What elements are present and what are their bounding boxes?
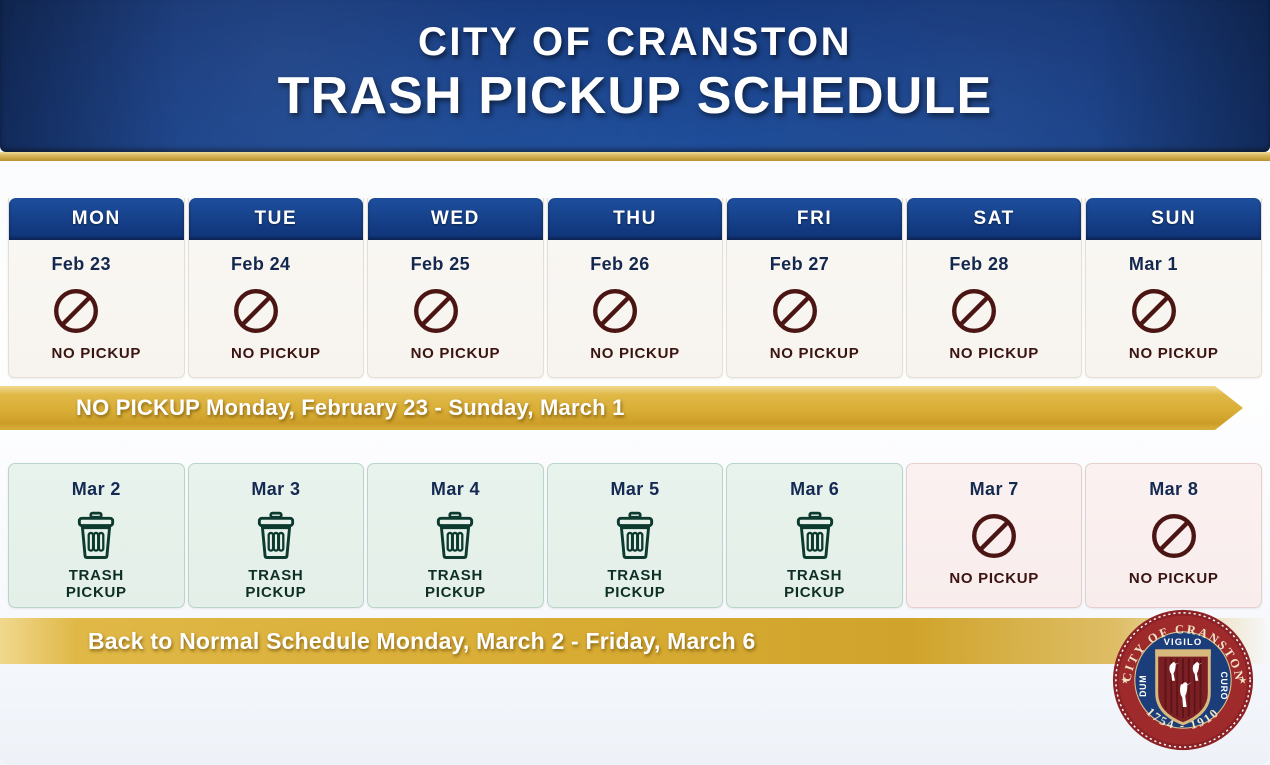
trash-pickup-schedule-graphic: CITY OF CRANSTON TRASH PICKUP SCHEDULE M… [0, 0, 1270, 765]
no-pickup-icon [411, 286, 461, 336]
city-of-cranston-seal: CITY OF CRANSTON 1754 - 1910 ★ ★ VIGILO … [1110, 607, 1256, 753]
weekday-header: MON [9, 198, 184, 240]
cell-date: Feb 28 [949, 254, 1039, 275]
title-lines: CITY OF CRANSTON TRASH PICKUP SCHEDULE [0, 18, 1270, 126]
cell-status-label: TRASHPICKUP [245, 567, 306, 601]
cell-status-label: NO PICKUP [1129, 345, 1219, 362]
weekday-header: TUE [189, 198, 364, 240]
week-2-banner-text: Back to Normal Schedule Monday, March 2 … [88, 628, 756, 655]
cell-status-label: NO PICKUP [949, 345, 1039, 362]
weekday-header: FRI [727, 198, 902, 240]
cell-date: Feb 24 [231, 254, 321, 275]
cell-date: Mar 5 [611, 479, 660, 500]
no-pickup-icon [51, 286, 101, 336]
cell-status-label: NO PICKUP [770, 345, 860, 362]
seal-motto-right: CURO [1219, 671, 1229, 700]
footer-area [0, 666, 1270, 765]
calendar-cell-feb-26[interactable]: THU Feb 26 NO PICKUP [547, 198, 724, 378]
calendar-cell-feb-25[interactable]: WED Feb 25 NO PICKUP [367, 198, 544, 378]
title-banner: CITY OF CRANSTON TRASH PICKUP SCHEDULE [0, 0, 1270, 152]
calendar-cell-feb-27[interactable]: FRI Feb 27 NO PICKUP [726, 198, 903, 378]
cell-status-label: TRASHPICKUP [605, 567, 666, 601]
week-1-banner-text: NO PICKUP Monday, February 23 - Sunday, … [76, 395, 625, 421]
cell-date: Mar 7 [970, 479, 1019, 500]
no-pickup-icon [1149, 511, 1199, 561]
cell-date: Mar 6 [790, 479, 839, 500]
weekday-header: THU [548, 198, 723, 240]
cell-date: Feb 27 [770, 254, 860, 275]
week-2-banner: Back to Normal Schedule Monday, March 2 … [0, 618, 1270, 664]
cell-date: Mar 2 [72, 479, 121, 500]
seal-motto-left: DUM [1138, 675, 1148, 697]
cell-status-label: TRASHPICKUP [66, 567, 127, 601]
calendar-cell-mar-7[interactable]: Mar 7 NO PICKUP [906, 463, 1083, 608]
no-pickup-icon [770, 286, 820, 336]
trash-bin-icon [791, 510, 839, 560]
calendar-cell-feb-24[interactable]: TUE Feb 24 NO PICKUP [188, 198, 365, 378]
trash-bin-icon [72, 510, 120, 560]
calendar-cell-mar-4[interactable]: Mar 4 TRASHPICKUP [367, 463, 544, 608]
cell-date: Feb 23 [51, 254, 141, 275]
calendar-cell-mar-3[interactable]: Mar 3 TRASHPICKUP [188, 463, 365, 608]
cell-status-label: NO PICKUP [949, 570, 1039, 587]
cell-status-label: NO PICKUP [1129, 570, 1219, 587]
calendar-cell-mar-5[interactable]: Mar 5 TRASHPICKUP [547, 463, 724, 608]
cell-status-label: NO PICKUP [590, 345, 680, 362]
seal-motto-top: VIGILO [1164, 637, 1203, 648]
cell-date: Mar 8 [1149, 479, 1198, 500]
no-pickup-icon [1129, 286, 1179, 336]
week-2-row: Mar 2 TRASHPICKUP Mar 3 TRASHPICKUP Mar … [8, 463, 1262, 608]
cell-status-label: NO PICKUP [51, 345, 141, 362]
trash-bin-icon [431, 510, 479, 560]
cell-date: Feb 25 [411, 254, 501, 275]
calendar-cell-mar-1[interactable]: SUN Mar 1 NO PICKUP [1085, 198, 1262, 378]
cell-status-label: NO PICKUP [231, 345, 321, 362]
weekday-header: SAT [907, 198, 1082, 240]
cell-date: Mar 4 [431, 479, 480, 500]
calendar-cell-mar-2[interactable]: Mar 2 TRASHPICKUP [8, 463, 185, 608]
no-pickup-icon [231, 286, 281, 336]
seal-star-right: ★ [1238, 676, 1247, 687]
no-pickup-icon [969, 511, 1019, 561]
schedule-board: MON Feb 23 NO PICKUP TUE Feb 24 NO PICKU… [0, 170, 1270, 670]
city-name: CITY OF CRANSTON [0, 18, 1270, 66]
no-pickup-icon [590, 286, 640, 336]
cell-date: Mar 1 [1129, 254, 1219, 275]
trash-bin-icon [252, 510, 300, 560]
week-1-row: MON Feb 23 NO PICKUP TUE Feb 24 NO PICKU… [8, 198, 1262, 378]
calendar-cell-feb-28[interactable]: SAT Feb 28 NO PICKUP [906, 198, 1083, 378]
no-pickup-icon [949, 286, 999, 336]
weekday-header: SUN [1086, 198, 1261, 240]
calendar-cell-mar-6[interactable]: Mar 6 TRASHPICKUP [726, 463, 903, 608]
cell-date: Feb 26 [590, 254, 680, 275]
week-1-banner: NO PICKUP Monday, February 23 - Sunday, … [0, 386, 1243, 430]
seal-star-left: ★ [1121, 676, 1130, 687]
calendar-cell-mar-8[interactable]: Mar 8 NO PICKUP [1085, 463, 1262, 608]
calendar-cell-feb-23[interactable]: MON Feb 23 NO PICKUP [8, 198, 185, 378]
weekday-header: WED [368, 198, 543, 240]
cell-status-label: TRASHPICKUP [784, 567, 845, 601]
cell-date: Mar 3 [251, 479, 300, 500]
trash-bin-icon [611, 510, 659, 560]
page-title: TRASH PICKUP SCHEDULE [0, 66, 1270, 126]
cell-status-label: NO PICKUP [411, 345, 501, 362]
cell-status-label: TRASHPICKUP [425, 567, 486, 601]
